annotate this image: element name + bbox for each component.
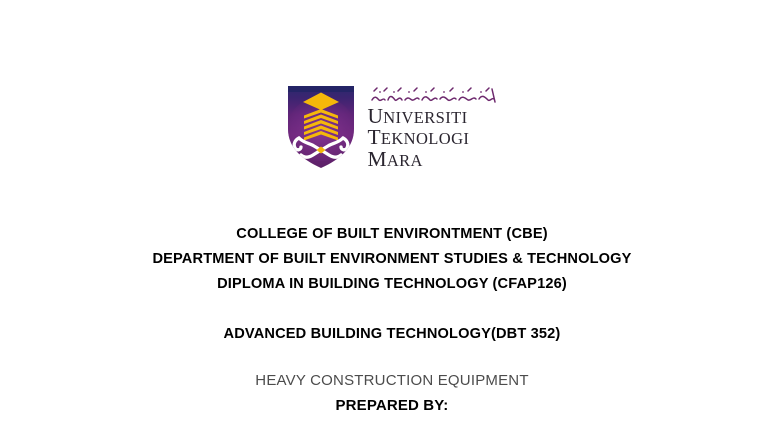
uitm-crest-icon [287, 85, 355, 169]
uitm-logo: UNIVERSITI TEKNOLOGI MARA [0, 85, 784, 175]
uitm-wordmark: UNIVERSITI TEKNOLOGI MARA [368, 85, 498, 170]
spacer-2 [0, 347, 784, 368]
uitm-name-line-1-rest: NIVERSITI [383, 108, 467, 127]
spacer-1 [0, 297, 784, 322]
title-slide: UNIVERSITI TEKNOLOGI MARA COLLEGE OF BUI… [0, 0, 784, 441]
heading-prepared-by: PREPARED BY: [0, 393, 784, 418]
uitm-name-line-3-rest: ARA [387, 151, 423, 170]
heading-programme: DIPLOMA IN BUILDING TECHNOLOGY (CFAP126) [0, 272, 784, 297]
uitm-name-line-3: MARA [368, 149, 470, 170]
heading-course-code: ADVANCED BUILDING TECHNOLOGY(DBT 352) [0, 322, 784, 347]
uitm-name-text: UNIVERSITI TEKNOLOGI MARA [368, 106, 470, 170]
logo-inner: UNIVERSITI TEKNOLOGI MARA [287, 85, 498, 170]
heading-department: DEPARTMENT OF BUILT ENVIRONMENT STUDIES … [0, 247, 784, 272]
uitm-name-line-1: UNIVERSITI [368, 106, 470, 127]
uitm-name-line-2: TEKNOLOGI [368, 127, 470, 148]
heading-topic: HEAVY CONSTRUCTION EQUIPMENT [0, 368, 784, 393]
title-text-block: COLLEGE OF BUILT ENVIRONTMENT (CBE) DEPA… [0, 222, 784, 418]
uitm-name-line-2-rest: EKNOLOGI [381, 129, 469, 148]
jawi-script-icon [368, 86, 498, 105]
heading-college: COLLEGE OF BUILT ENVIRONTMENT (CBE) [0, 222, 784, 247]
